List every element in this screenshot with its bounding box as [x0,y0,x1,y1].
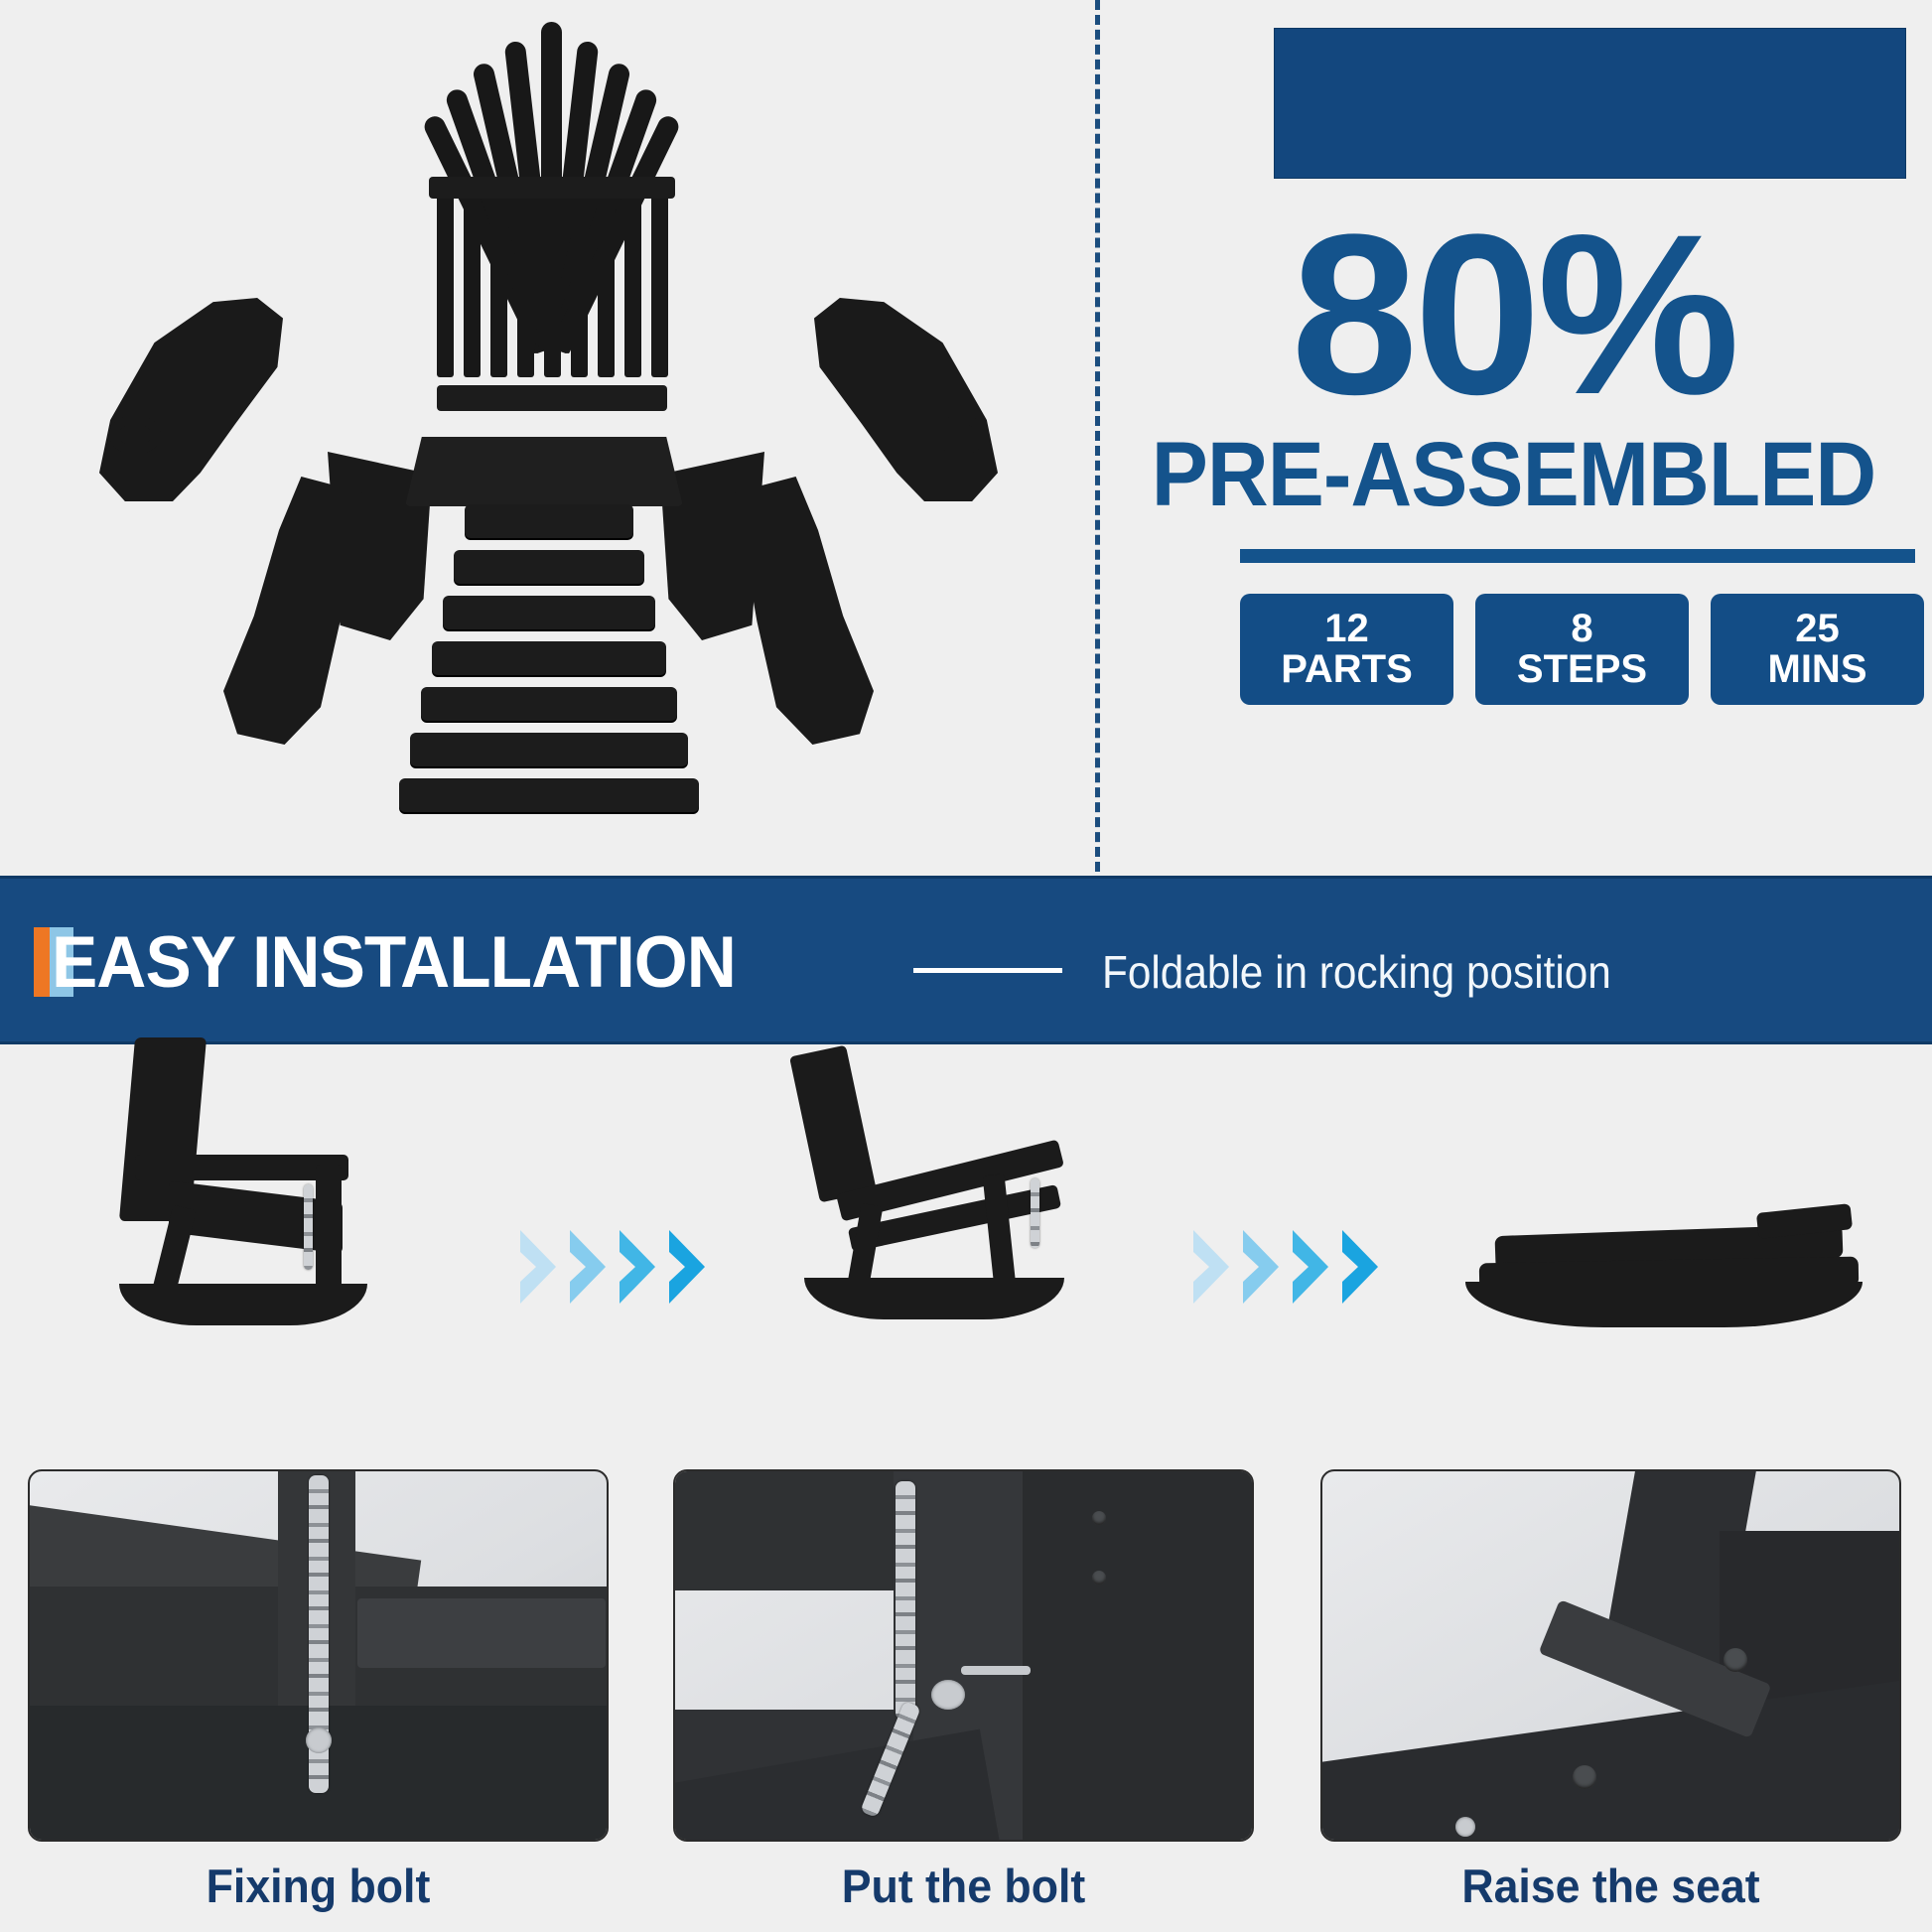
right-armrest-part [814,298,998,501]
backrest-vertical-slat [544,179,561,377]
backrest-top-rail [429,177,675,199]
panel2-chain [896,1481,915,1720]
banner-accent-orange-bar [34,927,50,997]
left-rocker-leg-part [223,477,362,745]
caption-raise-the-seat: Raise the seat [1335,1859,1887,1913]
stat-box-steps: 8 STEPS [1475,594,1689,705]
step1-front-leg [316,1165,342,1302]
caption-fixing-bolt: Fixing bolt [43,1859,595,1913]
panel1-bracket [357,1598,606,1668]
panel1-bolt [306,1727,332,1753]
banner-subtitle: Foldable in rocking position [1102,945,1611,999]
panel3-rivet-upper [1724,1648,1747,1672]
panel2-rivet-bottom [1092,1571,1106,1585]
fold-step-2-half-folded-chair [804,1057,1142,1365]
banner-title: EASY INSTALLATION [52,921,736,1004]
step2-chain [1031,1178,1039,1248]
fold-step-3-flat-folded-chair [1459,1206,1876,1365]
left-cup-holder [109,415,161,455]
chevron-right-icon [518,1228,558,1306]
backrest-vertical-slat [651,179,668,377]
backrest-vertical-slat [464,179,481,377]
seat-slat [399,778,699,812]
panel2-right-plate [1023,1469,1254,1842]
backrest-vertical-slat [490,179,507,377]
headline-underline-rule [1240,549,1915,563]
fold-sequence-row [0,1047,1932,1464]
chevron-right-icon [618,1228,657,1306]
stat-box-parts: 12 PARTS [1240,594,1453,705]
seat-slat [410,733,688,766]
seat-slat [454,550,644,584]
panel3-bottom-curve [1320,1672,1901,1842]
pre-assembled-percent: 80% [1095,201,1932,429]
right-rocker-leg-part [735,477,874,745]
backrest-vertical-slat [517,179,534,377]
step1-rocker-base [119,1284,367,1325]
brand-banner-block [1274,28,1906,179]
right-cup-holder [935,415,987,455]
detail-panel-raise-the-seat [1320,1469,1901,1842]
right-arm-body [814,298,998,501]
top-section: 80% PRE-ASSEMBLED 12 PARTS 8 STEPS 25 MI… [0,0,1932,872]
fold-step-1-upright-chair [109,1037,427,1365]
left-arm-body [99,298,283,501]
chevron-right-icon [667,1228,707,1306]
stat-mins-label: MINS [1768,649,1867,690]
backrest-lower-slats [429,179,672,417]
chevron-right-icon [1191,1228,1231,1306]
panel2-bolt-shaft [961,1666,1031,1675]
detail-photo-panels [0,1469,1932,1847]
seat-slat [421,687,677,721]
chevron-right-icon [1340,1228,1380,1306]
pre-assembled-headline: PRE-ASSEMBLED [1125,429,1903,520]
backrest-vertical-slat [624,179,641,377]
stat-parts-label: PARTS [1281,649,1413,690]
stat-mins-number: 25 [1795,609,1840,649]
infographic-page: 80% PRE-ASSEMBLED 12 PARTS 8 STEPS 25 MI… [0,0,1932,1932]
panel2-rivet-top [1092,1511,1106,1525]
detail-panel-fixing-bolt [28,1469,609,1842]
stat-steps-number: 8 [1571,609,1592,649]
step2-backrest-tilted [789,1045,877,1203]
caption-put-the-bolt: Put the bolt [688,1859,1240,1913]
step3-rocker-curve [1465,1282,1863,1327]
backrest-vertical-slat [437,179,454,377]
seat-slat [432,641,666,675]
seat-slat [443,596,655,629]
backrest-vertical-slat [598,179,615,377]
seat-slat [465,504,633,538]
stats-panel: 80% PRE-ASSEMBLED 12 PARTS 8 STEPS 25 MI… [1095,0,1932,872]
chevron-right-icon [1291,1228,1330,1306]
step1-chain [304,1184,313,1270]
panel2-bolt-head [931,1680,965,1710]
fold-arrow-group-2 [1191,1228,1380,1306]
detail-panel-put-the-bolt [673,1469,1254,1842]
exploded-product-illustration [0,0,1092,872]
left-armrest-part [99,298,283,501]
step2-rocker-base [804,1278,1064,1319]
panel3-screw [1455,1817,1475,1837]
backrest-vertical-slat [571,179,588,377]
banner-divider-line [913,968,1062,973]
panel3-rivet-lower [1573,1765,1596,1789]
stat-box-mins: 25 MINS [1711,594,1924,705]
chevron-right-icon [1241,1228,1281,1306]
seat-slat-stack [395,465,703,862]
fold-arrow-group-1 [518,1228,707,1306]
stat-box-group: 12 PARTS 8 STEPS 25 MINS [1240,594,1925,705]
backrest-bottom-rail [437,385,667,411]
chevron-right-icon [568,1228,608,1306]
stat-parts-number: 12 [1324,609,1369,649]
stat-steps-label: STEPS [1517,649,1647,690]
